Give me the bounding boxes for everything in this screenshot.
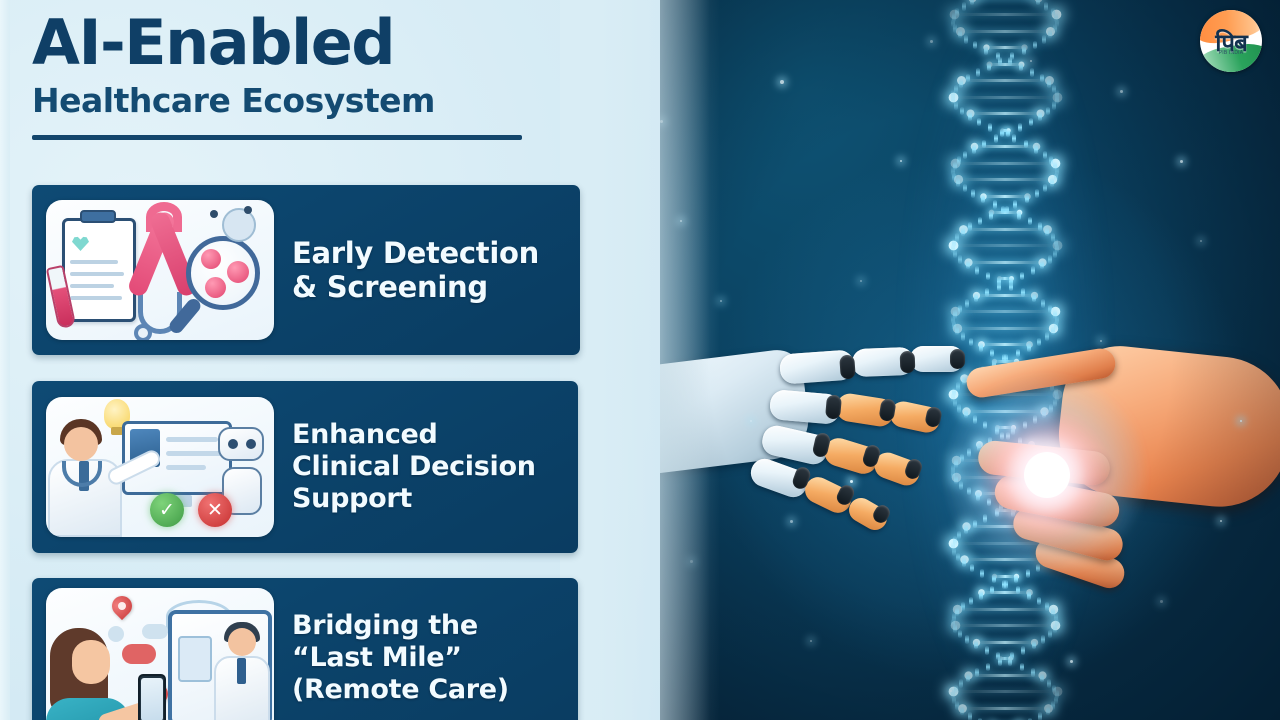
card-line-3: Support <box>292 483 536 515</box>
robot-joint <box>924 406 943 429</box>
sparkle-icon <box>750 420 752 422</box>
smartphone-screen <box>141 678 163 720</box>
feature-card-remote-care[interactable]: Bridging the “Last Mile” (Remote Care) <box>32 578 578 720</box>
card-line-2: & Screening <box>292 270 539 304</box>
card-line-2: “Last Mile” <box>292 642 509 674</box>
reject-badge: ✕ <box>198 493 232 527</box>
feature-card-label: Bridging the “Last Mile” (Remote Care) <box>292 610 509 706</box>
chat-bubble-icon <box>142 624 168 639</box>
sparkle-icon <box>1030 60 1032 62</box>
tablet-chart <box>178 636 212 682</box>
doctor-monitor-robot-icon: ✓ ✕ <box>46 397 274 537</box>
sparkle-icon <box>900 160 902 162</box>
feature-card-label: Enhanced Clinical Decision Support <box>292 419 536 515</box>
card-line-1: Early Detection <box>292 236 539 270</box>
title-block: AI-Enabled Healthcare Ecosystem <box>32 12 552 140</box>
clipboard-ribbon-magnifier-icon <box>46 200 274 340</box>
robot-eye <box>246 439 256 449</box>
clipboard-line <box>70 272 124 276</box>
monitor-text-line <box>166 451 222 456</box>
feature-card-label: Early Detection & Screening <box>292 236 539 304</box>
card-line-3: (Remote Care) <box>292 674 509 706</box>
germ-icon <box>222 208 256 242</box>
feature-card-clinical-decision-support[interactable]: ✓ ✕ Enhanced Clinical Decision Support <box>32 381 578 553</box>
monitor-text-line <box>166 437 218 442</box>
sparkle-icon <box>850 480 853 483</box>
germ-dot <box>210 210 218 218</box>
cell-icon <box>205 277 226 298</box>
approve-badge: ✓ <box>150 493 184 527</box>
sparkle-icon <box>1070 660 1073 663</box>
patient-face <box>72 640 110 684</box>
touch-spark-icon <box>1024 452 1070 498</box>
sparkle-icon <box>1220 520 1222 522</box>
sparkle-icon <box>1100 340 1102 342</box>
poster-root: AI-Enabled Healthcare Ecosystem <box>0 0 1280 720</box>
robot-head-icon <box>218 427 264 461</box>
clipboard-line <box>70 296 122 300</box>
sparkle-icon <box>930 40 933 43</box>
sparkle-icon <box>860 280 862 282</box>
magnifier-icon <box>186 236 260 310</box>
sparkle-icon <box>950 690 952 692</box>
clipboard-clip <box>80 210 116 223</box>
remote-doctor-head <box>228 628 256 656</box>
card-line-1: Enhanced <box>292 419 536 451</box>
robot-joint <box>839 355 856 380</box>
chat-bubble-icon <box>108 626 124 642</box>
page-subtitle: Healthcare Ecosystem <box>32 84 552 119</box>
sparkle-icon <box>720 300 722 302</box>
pib-india-logo[interactable]: पिब PIB INDIA <box>1200 10 1262 72</box>
cell-icon <box>227 261 249 283</box>
logo-subtext: PIB INDIA <box>1200 50 1262 56</box>
sparkle-icon <box>1200 240 1202 242</box>
robot-joint <box>950 349 965 369</box>
clipboard-line <box>70 260 118 264</box>
sparkle-icon <box>1120 90 1123 93</box>
robot-eye <box>228 439 238 449</box>
robot-joint <box>900 351 916 374</box>
title-divider <box>32 135 522 140</box>
clipboard-line <box>70 284 114 288</box>
telemedicine-patient-phone-icon <box>46 588 274 720</box>
card-line-1: Bridging the <box>292 610 509 642</box>
sparkle-icon <box>810 640 812 642</box>
remote-doctor-tie <box>237 658 246 684</box>
panel-left-edge <box>0 0 10 720</box>
sparkle-icon <box>1160 600 1163 603</box>
stethoscope-bell <box>134 324 152 340</box>
germ-dot <box>244 206 252 214</box>
page-title: AI-Enabled <box>32 12 552 74</box>
hero-photo <box>600 0 1280 720</box>
monitor-text-line <box>166 465 206 470</box>
doctor-head <box>64 427 98 461</box>
sparkle-icon <box>790 520 793 523</box>
cell-icon <box>201 249 221 269</box>
sparkle-icon <box>780 80 784 84</box>
sparkle-icon <box>1240 420 1242 422</box>
card-line-2: Clinical Decision <box>292 451 536 483</box>
chat-bubble-icon <box>122 644 156 664</box>
map-pin-icon <box>108 592 136 620</box>
sparkle-icon <box>1180 160 1183 163</box>
feature-card-early-detection[interactable]: Early Detection & Screening <box>32 185 580 355</box>
clipboard-icon <box>62 218 136 322</box>
